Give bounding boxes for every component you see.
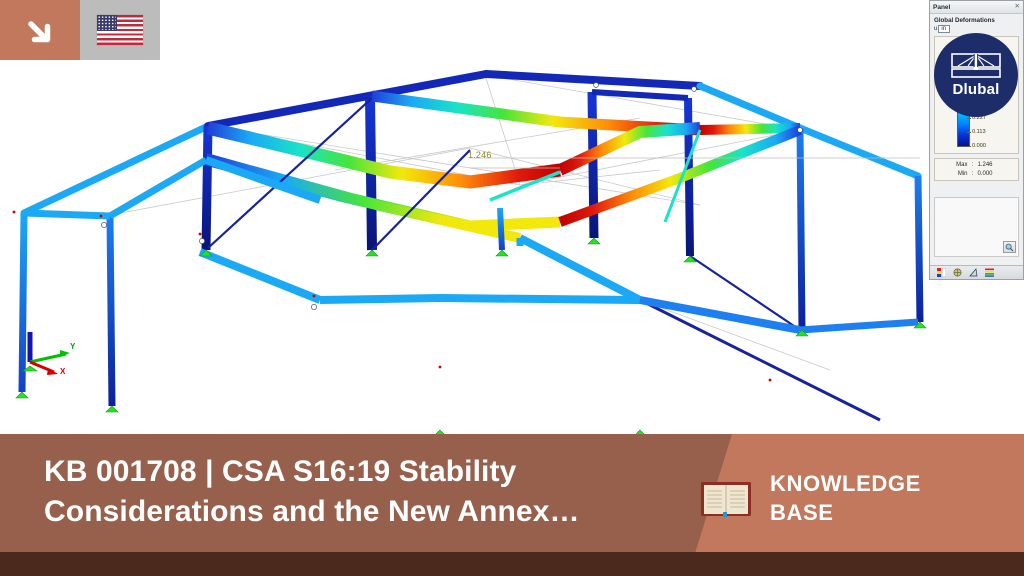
beam-rear-top-c <box>700 86 800 128</box>
us-flag-icon <box>97 15 143 45</box>
magnifier-glyph <box>1005 243 1014 252</box>
language-flag-badge[interactable] <box>80 0 160 60</box>
unit-prefix: u <box>934 26 937 32</box>
panel-toolbar[interactable] <box>930 265 1023 279</box>
knowledge-base-label: KNOWLEDGE BASE <box>770 470 921 527</box>
beam-front-h <box>800 322 918 330</box>
beam-deformed-upper <box>372 96 700 130</box>
axis-label-y: Y <box>70 342 75 351</box>
beam-front-f <box>440 298 640 300</box>
column-rear-2 <box>110 216 112 406</box>
min-value: 0.000 <box>978 170 1004 179</box>
beam-rear-right <box>800 128 918 176</box>
dlubal-wordmark: Dlubal <box>952 81 999 98</box>
knowledge-base-block: KNOWLEDGE BASE <box>700 470 921 527</box>
title-banner: KB 001708 | CSA S16:19 Stability Conside… <box>0 434 1024 576</box>
panel-title: Panel <box>933 4 950 11</box>
axis-triad: Y X <box>22 330 92 390</box>
kb-line-1: KNOWLEDGE <box>770 470 921 499</box>
column-rear-8 <box>918 176 920 322</box>
banner-title-line1: KB 001708 | CSA S16:19 Stability <box>44 452 654 492</box>
beam-deformed-lower-b <box>520 238 640 300</box>
download-arrow-badge[interactable] <box>0 0 80 60</box>
max-label: Max <box>950 161 968 170</box>
panel-caption: Global Deformations <box>934 17 1019 24</box>
axis-triad-icon <box>22 330 92 390</box>
min-label: Min <box>950 170 968 179</box>
kb-line-2: BASE <box>770 499 921 528</box>
max-value: 1.246 <box>978 161 1004 170</box>
min-row: Min : 0.000 <box>938 170 1015 179</box>
max-row: Max : 1.246 <box>938 161 1015 170</box>
deformation-value-label: 1.246 <box>468 150 492 160</box>
beam-deformed-upper-tail <box>700 128 800 130</box>
legend-tick-2: 0.000 <box>972 143 986 149</box>
column-mid-short <box>500 208 502 250</box>
render-globe-icon[interactable] <box>953 268 962 277</box>
column-rear-5 <box>592 92 594 238</box>
banner-title: KB 001708 | CSA S16:19 Stability Conside… <box>44 452 654 531</box>
panel-unit-row: uin <box>934 25 1019 33</box>
support-symbols <box>16 238 926 436</box>
banner-title-line2: Considerations and the New Annex… <box>44 492 654 532</box>
column-rear-3 <box>206 126 208 250</box>
color-bands-icon[interactable] <box>985 268 994 277</box>
structural-model-render <box>0 0 1024 440</box>
beam-front-e <box>200 252 320 300</box>
bracing-diagonal-long <box>640 300 880 420</box>
min-colon: : <box>971 170 975 179</box>
beam-front-a <box>24 213 110 216</box>
banner-footer-strip <box>0 552 1024 576</box>
beam-rear-top-b <box>486 74 700 86</box>
smoothing-icon[interactable] <box>969 268 978 277</box>
open-book-icon <box>700 479 752 519</box>
close-icon[interactable]: ✕ <box>1015 4 1020 11</box>
model-viewport[interactable]: 1.246 Y X <box>0 0 1024 440</box>
max-colon: : <box>971 161 975 170</box>
beam-rear-left <box>24 126 208 213</box>
axis-label-x: X <box>60 367 65 376</box>
arrow-down-right-icon <box>22 12 58 48</box>
color-scale-icon[interactable] <box>937 268 946 277</box>
legend-tick-1: 0.113 <box>972 129 986 135</box>
dlubal-logo[interactable]: Dlubal <box>934 33 1018 117</box>
beam-rear-seg-b <box>592 92 688 98</box>
frame-structure-icon <box>951 53 1001 79</box>
unit-value[interactable]: in <box>938 25 950 33</box>
screenshot-root: 1.246 Y X Panel <box>0 0 1024 576</box>
beam-front-d <box>320 298 440 300</box>
panel-titlebar: Panel ✕ <box>930 1 1023 14</box>
magnifier-icon[interactable] <box>1003 241 1016 253</box>
min-max-box: Max : 1.246 Min : 0.000 <box>934 158 1019 181</box>
